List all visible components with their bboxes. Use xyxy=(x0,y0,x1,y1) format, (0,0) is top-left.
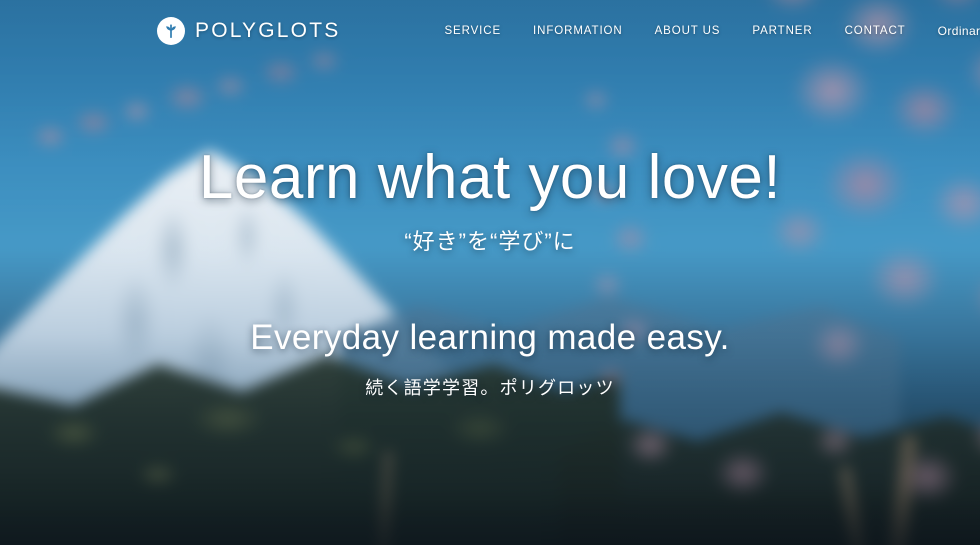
nav-item-contact[interactable]: CONTACT xyxy=(829,25,922,37)
main-navigation: SERVICE INFORMATION ABOUT US PARTNER CON… xyxy=(428,24,980,38)
hero-subheadline-jp: 続く語学学習。ポリグロッツ xyxy=(0,374,980,400)
hero-headline-jp: “好き”を“学び”に xyxy=(0,224,980,256)
nav-item-about-us[interactable]: ABOUT US xyxy=(639,25,737,37)
site-header: POLYGLOTS SERVICE INFORMATION ABOUT US P… xyxy=(0,0,980,62)
hero-copy-block: Learn what you love! “好き”を“学び”に Everyday… xyxy=(0,146,980,400)
hero-section: POLYGLOTS SERVICE INFORMATION ABOUT US P… xyxy=(0,0,980,545)
hero-headline: Learn what you love! xyxy=(0,146,980,210)
hero-subheadline: Everyday learning made easy. xyxy=(0,318,980,358)
bottom-shadow-band xyxy=(0,495,980,545)
sprout-logo-icon xyxy=(157,17,185,45)
nav-item-partner[interactable]: PARTNER xyxy=(736,25,828,37)
logo-home-link[interactable]: POLYGLOTS xyxy=(157,17,340,45)
nav-item-ordinary-day[interactable]: Ordinary Day xyxy=(922,24,980,38)
nav-item-service[interactable]: SERVICE xyxy=(428,25,517,37)
logo-wordmark: POLYGLOTS xyxy=(195,19,340,43)
nav-item-information[interactable]: INFORMATION xyxy=(517,25,639,37)
